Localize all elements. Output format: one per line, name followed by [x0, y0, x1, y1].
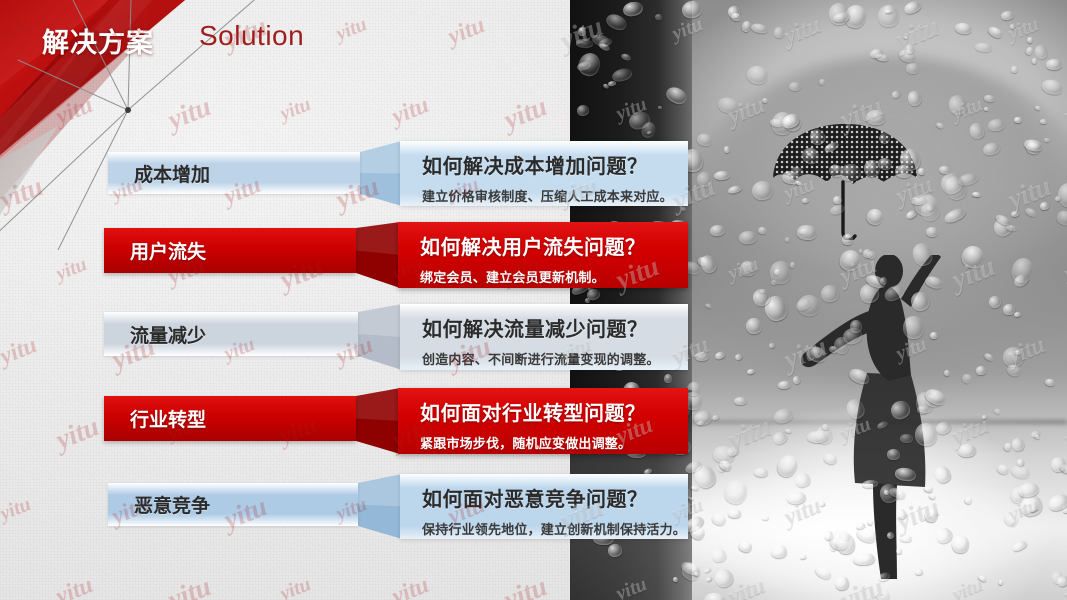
rain-drop — [1055, 209, 1067, 227]
row-question: 如何面对恶意竞争问题？ — [422, 483, 688, 512]
rain-drop — [882, 282, 907, 304]
rain-drop — [880, 277, 887, 286]
rain-drop — [876, 589, 892, 600]
rain-drop — [672, 577, 677, 583]
rain-drop — [926, 226, 939, 237]
rain-drop — [702, 591, 727, 600]
rain-drop — [758, 226, 768, 235]
rain-drop — [899, 535, 912, 542]
rain-drop — [577, 26, 586, 36]
rain-drop — [746, 64, 770, 85]
rain-drop — [800, 555, 807, 560]
rain-drop — [1035, 434, 1041, 439]
rain-drop — [709, 224, 725, 236]
rain-drop — [704, 567, 712, 574]
row-arrow-tip — [358, 304, 402, 370]
rain-drop — [946, 93, 970, 118]
row-label-text: 恶意竞争 — [108, 491, 210, 518]
rain-drop — [723, 146, 730, 153]
rain-drop — [738, 539, 754, 553]
rain-drop — [906, 89, 922, 106]
rain-drop — [888, 398, 912, 422]
rain-drop — [746, 317, 763, 334]
rain-drop — [576, 104, 589, 116]
rain-drop — [935, 420, 953, 436]
rain-drop — [620, 53, 632, 62]
rain-drop — [867, 251, 876, 259]
rain-drop — [1009, 23, 1015, 29]
page-title-en: Solution — [199, 20, 304, 52]
rain-drop — [866, 110, 886, 125]
rain-drop — [584, 298, 589, 304]
row-detail-panel-cost-increase[interactable]: 如何解决成本增加问题？建立价格审核制度、压缩人工成本来对应。 — [400, 141, 688, 206]
rain-drop — [904, 35, 909, 39]
rain-drop — [923, 506, 939, 523]
row-question: 如何解决流量减少问题？ — [422, 313, 688, 342]
rain-drop — [808, 126, 829, 147]
slide-canvas: 解决方案 Solution 成本增加如何解决成本增加问题？建立价格审核制度、压缩… — [0, 0, 1067, 600]
rain-drop — [923, 485, 933, 493]
row-label-bar-cost-increase[interactable]: 成本增加 — [108, 152, 360, 194]
row-answer: 保持行业领先地位，建立创新机制保持活力。 — [422, 519, 688, 538]
rain-drop — [785, 428, 793, 434]
rain-drop — [951, 534, 970, 554]
rain-drop — [727, 185, 742, 196]
rain-drop — [692, 409, 713, 427]
rain-drop — [972, 191, 982, 197]
rain-drop — [894, 466, 917, 482]
rain-drop — [895, 547, 902, 554]
rain-drop — [977, 574, 987, 582]
rain-drop — [1013, 117, 1022, 123]
rain-drop — [1003, 510, 1021, 528]
rain-drop — [944, 370, 951, 377]
rain-drop — [900, 434, 913, 443]
rain-drop — [877, 156, 893, 170]
rain-drop — [910, 240, 936, 268]
rain-drop — [704, 302, 712, 309]
rain-drop — [842, 233, 855, 245]
rain-drop — [1040, 119, 1047, 124]
rain-drop — [884, 490, 889, 495]
rain-drop — [714, 351, 725, 361]
rain-drop — [902, 315, 924, 339]
rain-drop — [713, 170, 730, 180]
rain-drop — [795, 180, 803, 186]
rain-drop — [964, 496, 973, 505]
row-question: 如何解决用户流失问题？ — [420, 231, 688, 260]
rain-drop — [1014, 311, 1021, 317]
rain-drop — [576, 38, 594, 48]
rain-drop — [855, 524, 879, 545]
row-answer: 紧跟市场步伐，随机应变做出调整。 — [420, 433, 688, 452]
rain-drop — [943, 206, 967, 225]
rain-drop — [976, 366, 986, 375]
rain-drop — [982, 141, 1001, 157]
rain-drop — [1040, 202, 1050, 211]
rain-drop — [836, 534, 855, 556]
rain-drop — [984, 94, 996, 102]
rain-drop — [864, 206, 885, 227]
rain-drop — [867, 519, 873, 526]
rain-drop — [1001, 10, 1016, 21]
rain-drop — [967, 121, 986, 141]
rain-drop — [834, 575, 850, 591]
row-detail-panel-traffic-decline[interactable]: 如何解决流量减少问题？创造内容、不间断进行流量变现的调整。 — [400, 304, 688, 370]
rain-drop — [769, 260, 791, 284]
row-label-bar-malicious-competition[interactable]: 恶意竞争 — [108, 483, 358, 526]
rain-drop — [696, 171, 713, 188]
rain-drop — [843, 396, 867, 421]
rain-drop — [754, 468, 769, 478]
rain-drop — [768, 342, 775, 349]
rain-drop — [1046, 58, 1062, 69]
rain-drop — [891, 90, 901, 100]
rain-drop — [722, 478, 749, 507]
rain-drop — [711, 414, 720, 421]
rain-drop — [800, 145, 823, 167]
rain-drop — [1026, 36, 1033, 43]
rain-drop — [681, 207, 687, 212]
rain-drop — [914, 569, 922, 575]
rain-drop — [785, 237, 790, 242]
rain-drop — [691, 485, 699, 491]
rain-drop — [1044, 378, 1056, 387]
row-answer: 建立价格审核制度、压缩人工成本来对应。 — [422, 186, 688, 205]
rain-drop — [696, 132, 714, 148]
rain-drop — [772, 406, 794, 425]
rain-drop — [792, 375, 801, 385]
rain-drop — [906, 63, 920, 75]
row-detail-panel-industry-transform[interactable]: 如何面对行业转型问题？紧跟市场步伐，随机应变做出调整。 — [398, 388, 688, 454]
rain-drop — [981, 414, 987, 419]
rain-drop — [895, 507, 908, 520]
row-detail-panel-user-churn[interactable]: 如何解决用户流失问题？绑定会员、建立会员更新机制。 — [398, 222, 688, 288]
rain-drop — [877, 131, 892, 145]
rain-drop — [1031, 58, 1037, 64]
row-label-text: 行业转型 — [104, 405, 206, 432]
rain-drop — [988, 295, 1002, 310]
rain-drop — [858, 248, 863, 253]
rain-drop — [716, 95, 740, 115]
rain-drop — [762, 97, 769, 103]
rain-drop — [887, 449, 901, 460]
row-label-bar-industry-transform[interactable]: 行业转型 — [104, 396, 356, 441]
rain-drop — [918, 167, 925, 174]
row-question: 如何面对行业转型问题？ — [420, 397, 688, 426]
rain-drop — [983, 352, 994, 362]
rain-drop — [877, 571, 891, 583]
rain-drop — [993, 407, 1002, 415]
rain-drop — [932, 464, 953, 485]
row-label-text: 流量减少 — [104, 321, 206, 348]
rain-drop — [877, 4, 899, 28]
rain-drop — [923, 274, 944, 290]
rain-drop — [778, 380, 791, 389]
rain-drop — [1010, 463, 1032, 480]
rain-drop — [1011, 539, 1028, 553]
rain-drop — [954, 21, 973, 35]
rain-drop — [885, 531, 895, 541]
rain-drop — [771, 544, 788, 558]
rain-drop — [1024, 206, 1038, 218]
rain-drop — [789, 82, 802, 92]
rain-drop — [829, 203, 846, 217]
rain-drop — [820, 283, 842, 304]
rain-drop — [1040, 78, 1063, 96]
rain-drop — [958, 443, 977, 457]
row-label-bar-user-churn[interactable]: 用户流失 — [104, 228, 356, 273]
row-arrow-tip — [356, 222, 400, 288]
rain-drop — [902, 0, 922, 16]
rain-drop — [734, 397, 747, 405]
rain-drop — [819, 501, 825, 506]
rain-drop — [935, 122, 944, 130]
rain-drop — [750, 22, 769, 35]
rain-drop — [622, 0, 644, 18]
rain-drop — [847, 366, 871, 387]
rain-drop — [814, 564, 834, 581]
rain-drop — [705, 575, 712, 581]
rain-drop — [876, 420, 888, 430]
rain-drop — [607, 543, 623, 558]
rain-drop — [761, 516, 768, 520]
rain-drop — [984, 106, 990, 111]
rain-drop — [786, 491, 806, 505]
rain-drop — [739, 260, 757, 276]
rain-drop — [1011, 66, 1019, 74]
row-label-text: 用户流失 — [104, 237, 206, 264]
rain-drop — [975, 42, 993, 53]
rain-drop — [751, 180, 774, 201]
rain-drop — [575, 50, 602, 79]
rain-drop — [774, 26, 785, 38]
rain-drop — [801, 198, 809, 204]
rain-drop — [730, 12, 742, 23]
row-answer: 绑定会员、建立会员更新机制。 — [420, 267, 688, 286]
rain-drop — [1044, 138, 1050, 142]
rain-drop — [999, 579, 1004, 584]
rain-drop — [793, 471, 812, 489]
row-label-text: 成本增加 — [108, 160, 210, 187]
rain-drop — [928, 493, 936, 501]
row-arrow-tip — [358, 474, 402, 539]
rain-drop — [734, 353, 742, 361]
rain-drop — [960, 373, 973, 386]
rain-drop — [987, 25, 1005, 40]
rain-drop — [664, 84, 689, 107]
rain-drop — [1011, 210, 1020, 217]
rain-drop — [958, 243, 986, 271]
row-detail-panel-malicious-competition[interactable]: 如何面对恶意竞争问题？保持行业领先地位，建立创新机制保持活力。 — [400, 474, 688, 539]
rain-drop — [680, 0, 703, 20]
row-answer: 创造内容、不间断进行流量变现的调整。 — [422, 349, 688, 368]
rain-drop — [738, 231, 757, 246]
rain-drop — [914, 422, 938, 447]
row-question: 如何解决成本增加问题？ — [422, 150, 688, 179]
row-arrow-tip — [360, 141, 402, 206]
rain-drop — [805, 343, 829, 364]
rain-drop — [712, 566, 736, 590]
rain-drop — [1010, 436, 1025, 452]
rain-drop — [861, 479, 878, 489]
rain-drop — [996, 462, 1011, 475]
rain-drop — [909, 289, 932, 313]
row-arrow-tip — [356, 388, 400, 454]
row-label-bar-traffic-decline[interactable]: 流量减少 — [104, 312, 358, 356]
rain-drop — [821, 423, 829, 430]
rain-drop — [711, 547, 727, 563]
rain-drop — [796, 224, 817, 240]
rain-drop — [818, 78, 826, 86]
rain-drop — [710, 512, 728, 528]
rain-drop — [663, 374, 672, 384]
rain-drop — [823, 139, 840, 153]
rain-drop — [823, 452, 838, 465]
rain-drop — [728, 509, 741, 518]
rain-drop — [1024, 45, 1033, 55]
page-title-cn: 解决方案 — [42, 21, 154, 60]
rain-drop — [1035, 105, 1041, 110]
rain-drop — [655, 13, 663, 20]
rain-drop — [930, 332, 938, 340]
rain-drop — [853, 552, 875, 565]
rain-drop — [987, 117, 1006, 132]
rain-drop — [695, 352, 709, 361]
rain-drop — [746, 368, 755, 375]
rain-drop — [658, 106, 662, 109]
